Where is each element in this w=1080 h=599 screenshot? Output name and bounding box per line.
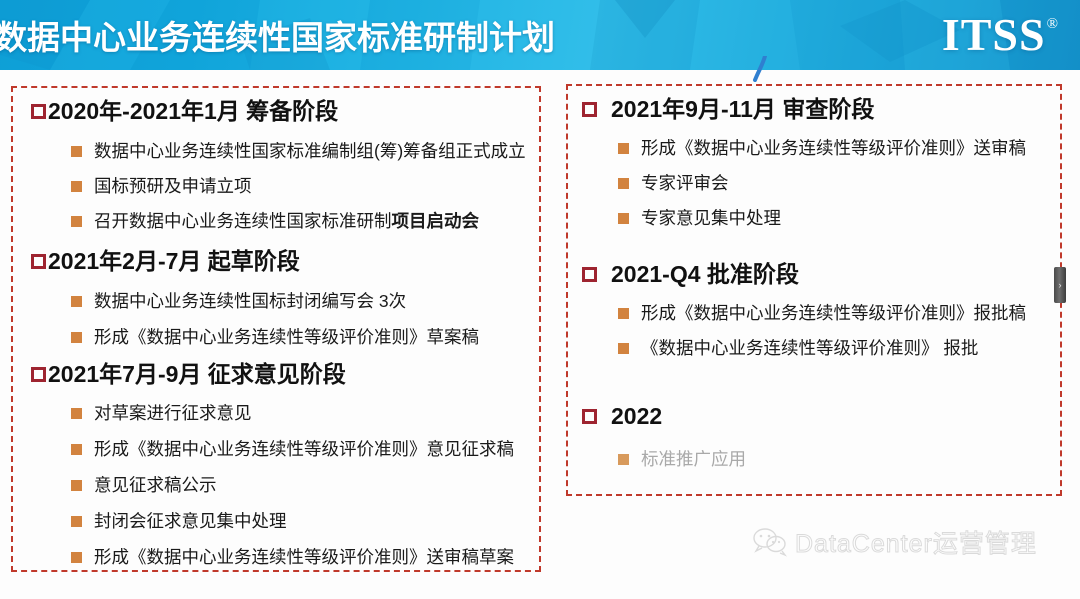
square-bullet-icon <box>71 444 82 455</box>
hollow-square-bullet-icon <box>31 367 46 382</box>
square-bullet-icon <box>71 216 82 227</box>
square-bullet-icon <box>71 408 82 419</box>
list-item-label: 对草案进行征求意见 <box>94 404 252 423</box>
phase-heading: 2021年7月-9月 征求意见阶段 <box>31 363 346 386</box>
list-item-label: 数据中心业务连续性国标封闭编写会 3次 <box>94 292 406 311</box>
phase-heading-label: 2022 <box>611 405 662 428</box>
list-item: 召开数据中心业务连续性国家标准研制项目启动会 <box>71 212 479 231</box>
list-item: 形成《数据中心业务连续性等级评价准则》草案稿 <box>71 328 479 347</box>
list-item-label: 《数据中心业务连续性等级评价准则》 报批 <box>641 339 978 358</box>
header-banner: 数据中心业务连续性国家标准研制计划 ITSS ® <box>0 0 1080 70</box>
itss-logo: ITSS ® <box>942 13 1058 57</box>
wechat-icon <box>752 527 788 557</box>
list-item: 数据中心业务连续性国标封闭编写会 3次 <box>71 292 406 311</box>
left-timeline-panel: 2020年-2021年1月 筹备阶段 数据中心业务连续性国家标准编制组(筹)筹备… <box>11 86 541 572</box>
list-item: 封闭会征求意见集中处理 <box>71 512 287 531</box>
phase-heading: 2021-Q4 批准阶段 <box>582 263 799 286</box>
hollow-square-bullet-icon <box>582 102 597 117</box>
list-item-label: 专家评审会 <box>641 174 729 193</box>
list-item: 专家评审会 <box>618 174 729 193</box>
list-item-label: 意见征求稿公示 <box>94 476 217 495</box>
phase-heading: 2020年-2021年1月 筹备阶段 <box>31 100 338 123</box>
list-item: 形成《数据中心业务连续性等级评价准则》送审稿 <box>618 139 1026 158</box>
phase-heading: 2022 <box>582 405 662 428</box>
hollow-square-bullet-icon <box>31 254 46 269</box>
registered-trademark-icon: ® <box>1047 17 1058 32</box>
list-item: 形成《数据中心业务连续性等级评价准则》意见征求稿 <box>71 440 514 459</box>
list-item: 《数据中心业务连续性等级评价准则》 报批 <box>618 339 978 358</box>
list-item: 数据中心业务连续性国家标准编制组(筹)筹备组正式成立 <box>71 142 526 161</box>
list-item-label: 形成《数据中心业务连续性等级评价准则》送审稿 <box>641 139 1026 158</box>
square-bullet-icon <box>618 213 629 224</box>
list-item: 形成《数据中心业务连续性等级评价准则》送审稿草案 <box>71 548 514 567</box>
square-bullet-icon <box>618 178 629 189</box>
list-item: 标准推广应用 <box>618 450 746 469</box>
list-item: 专家意见集中处理 <box>618 209 781 228</box>
square-bullet-icon <box>71 516 82 527</box>
itss-logo-text: ITSS <box>942 13 1046 57</box>
list-item-label: 封闭会征求意见集中处理 <box>94 512 287 531</box>
list-item-emphasis: 项目启动会 <box>392 212 480 231</box>
phase-heading-label: 2020年-2021年1月 筹备阶段 <box>48 100 338 123</box>
right-timeline-panel: 2021年9月-11月 审查阶段 形成《数据中心业务连续性等级评价准则》送审稿 … <box>566 84 1062 496</box>
square-bullet-icon <box>71 480 82 491</box>
phase-heading-label: 2021年9月-11月 审查阶段 <box>611 98 874 121</box>
square-bullet-icon <box>618 454 629 465</box>
list-item-label: 形成《数据中心业务连续性等级评价准则》草案稿 <box>94 328 479 347</box>
phase-heading-label: 2021年2月-7月 起草阶段 <box>48 250 300 273</box>
square-bullet-icon <box>71 181 82 192</box>
hollow-square-bullet-icon <box>582 267 597 282</box>
square-bullet-icon <box>71 296 82 307</box>
square-bullet-icon <box>71 552 82 563</box>
phase-heading: 2021年9月-11月 审查阶段 <box>582 98 874 121</box>
watermark-label: DataCenter运营管理 <box>795 524 1037 560</box>
list-item: 形成《数据中心业务连续性等级评价准则》报批稿 <box>618 304 1026 323</box>
square-bullet-icon <box>618 143 629 154</box>
list-item-label: 国标预研及申请立项 <box>94 177 252 196</box>
list-item-label: 专家意见集中处理 <box>641 209 781 228</box>
page-title: 数据中心业务连续性国家标准研制计划 <box>0 11 555 59</box>
list-item: 意见征求稿公示 <box>71 476 217 495</box>
square-bullet-icon <box>618 343 629 354</box>
hollow-square-bullet-icon <box>582 409 597 424</box>
list-item-label: 形成《数据中心业务连续性等级评价准则》送审稿草案 <box>94 548 514 567</box>
hollow-square-bullet-icon <box>31 104 46 119</box>
list-item-label: 数据中心业务连续性国家标准编制组(筹)筹备组正式成立 <box>94 142 526 161</box>
list-item: 对草案进行征求意见 <box>71 404 252 423</box>
wechat-watermark: DataCenter运营管理 <box>752 524 1037 560</box>
list-item-label: 召开数据中心业务连续性国家标准研制 <box>94 212 392 231</box>
square-bullet-icon <box>71 146 82 157</box>
list-item-label: 形成《数据中心业务连续性等级评价准则》报批稿 <box>641 304 1026 323</box>
list-item: 国标预研及申请立项 <box>71 177 252 196</box>
edge-drag-handle[interactable]: › <box>1054 267 1066 303</box>
list-item-label: 形成《数据中心业务连续性等级评价准则》意见征求稿 <box>94 440 514 459</box>
list-item-label: 标准推广应用 <box>641 450 746 469</box>
phase-heading-label: 2021年7月-9月 征求意见阶段 <box>48 363 346 386</box>
square-bullet-icon <box>71 332 82 343</box>
phase-heading-label: 2021-Q4 批准阶段 <box>611 263 799 286</box>
phase-heading: 2021年2月-7月 起草阶段 <box>31 250 300 273</box>
square-bullet-icon <box>618 308 629 319</box>
